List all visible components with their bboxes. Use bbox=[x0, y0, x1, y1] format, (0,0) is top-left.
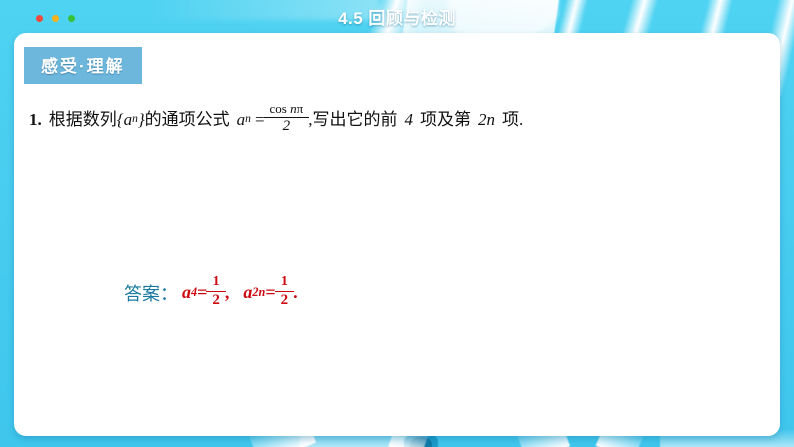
sequence-close-brace: } bbox=[138, 111, 145, 128]
answer-term1-numerator: 1 bbox=[210, 275, 223, 291]
cos-function: cos bbox=[270, 101, 287, 116]
slide-root: 4.5 回顾与检测 感受·理解 1. 根据数列 { a n } 的通项公式 a … bbox=[0, 0, 794, 447]
answer-term2-numerator: 1 bbox=[278, 275, 291, 291]
problem-text-2: 的通项公式 bbox=[145, 111, 230, 128]
section-badge: 感受·理解 bbox=[24, 47, 142, 84]
problem-statement: 1. 根据数列 { a n } 的通项公式 a n = cos nπ 2 , 写… bbox=[29, 103, 762, 135]
first-terms-count: 4 bbox=[404, 111, 413, 128]
fraction-numerator: cos nπ bbox=[267, 102, 307, 117]
answer-term2-subscript: 2n bbox=[252, 285, 265, 300]
problem-text-3: 写出它的前 bbox=[312, 111, 397, 128]
window-controls bbox=[36, 15, 75, 22]
sequence-open-brace: { bbox=[117, 111, 124, 128]
answer-term1-fraction: 1 2 bbox=[209, 275, 223, 308]
formula-subscript: n bbox=[245, 113, 251, 125]
formula-fraction: cos nπ 2 bbox=[267, 102, 307, 134]
formula-variable: a bbox=[237, 111, 246, 128]
answer-label: 答案： bbox=[124, 280, 178, 306]
problem-number: 1. bbox=[29, 111, 42, 128]
page-title: 4.5 回顾与检测 bbox=[0, 4, 794, 29]
maximize-icon[interactable] bbox=[68, 15, 75, 22]
answer-line: 答案： a 4 = 1 2 , a 2n = 1 2 . bbox=[124, 276, 298, 309]
problem-text-4: 项及第 bbox=[420, 111, 471, 128]
nth-term-index: 2n bbox=[478, 111, 495, 128]
fraction-denominator: 2 bbox=[264, 117, 310, 135]
problem-text-5: 项. bbox=[502, 111, 523, 128]
close-icon[interactable] bbox=[36, 15, 43, 22]
answer-term1-variable: a bbox=[182, 282, 191, 303]
answer-math: a 4 = 1 2 , a 2n = 1 2 . bbox=[182, 276, 298, 309]
pi-symbol: π bbox=[297, 101, 304, 116]
answer-term1-denominator: 2 bbox=[206, 291, 226, 309]
answer-term2-denominator: 2 bbox=[275, 291, 295, 309]
ribbon-bottom-dome-inner bbox=[410, 437, 432, 447]
content-card: 感受·理解 1. 根据数列 { a n } 的通项公式 a n = cos nπ… bbox=[14, 33, 780, 436]
minimize-icon[interactable] bbox=[52, 15, 59, 22]
problem-text-1: 根据数列 bbox=[49, 111, 117, 128]
sequence-variable: a bbox=[124, 111, 133, 128]
answer-term2-fraction: 1 2 bbox=[278, 275, 292, 308]
